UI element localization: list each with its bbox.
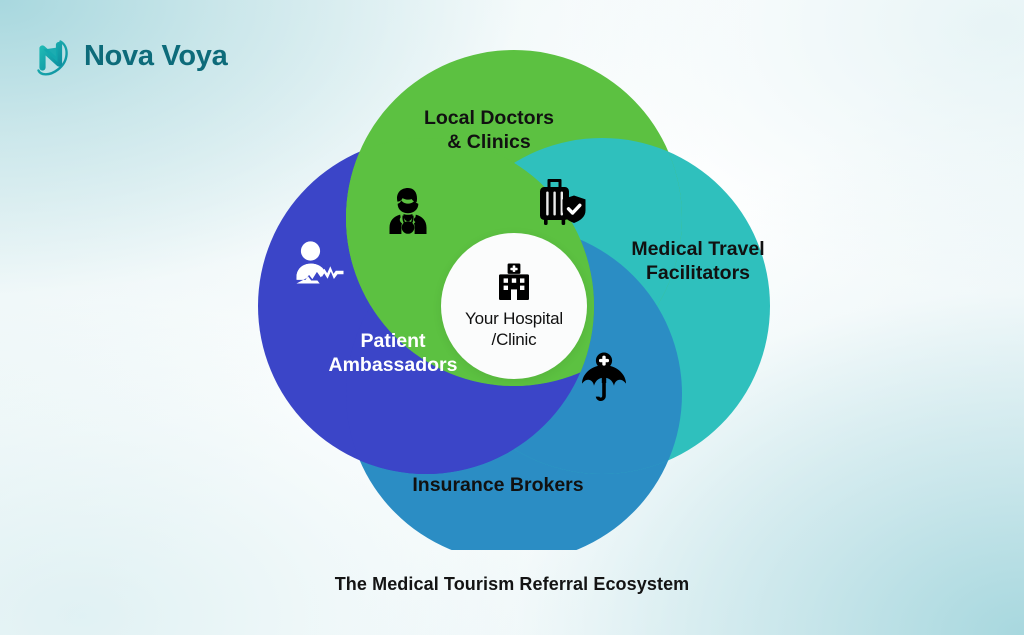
- nova-swoosh-n-icon: [30, 34, 74, 78]
- suitcase-shield-check-icon: [533, 177, 587, 232]
- center-hub-label: Your Hospital /Clinic: [465, 309, 563, 349]
- center-hub: Your Hospital /Clinic: [441, 233, 587, 379]
- diagram-caption: The Medical Tourism Referral Ecosystem: [0, 574, 1024, 595]
- hospital-building-icon: [493, 262, 535, 307]
- brand-name: Nova Voya: [84, 40, 227, 73]
- umbrella-medical-cross-icon: [580, 352, 628, 409]
- brand-logo: Nova Voya: [30, 34, 227, 78]
- patient-pulse-icon: [295, 240, 345, 291]
- female-doctor-stethoscope-icon: [385, 186, 431, 241]
- venn-diagram: Local Doctors & Clinics Medical Travel F…: [258, 50, 770, 550]
- diagram-canvas: Nova Voya: [0, 0, 1024, 635]
